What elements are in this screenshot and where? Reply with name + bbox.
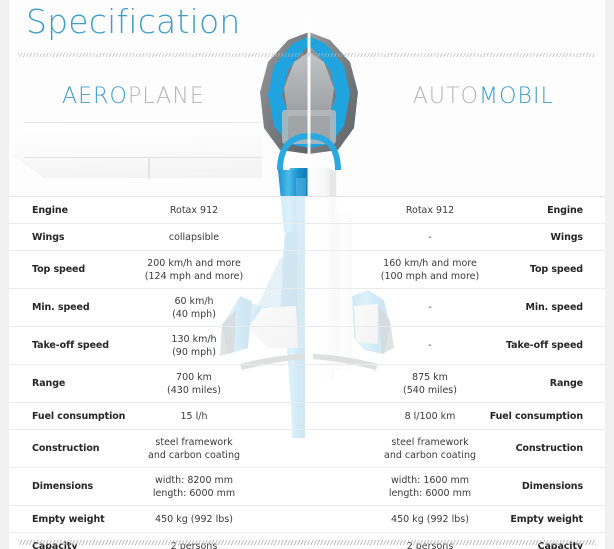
column-heading-aeroplane: AEROPLANE (62, 84, 205, 109)
row-label-right: Dimensions (522, 481, 583, 492)
row-value-aeroplane: 450 kg (992 lbs) (119, 513, 269, 526)
column-gap (305, 506, 313, 532)
heading-aeroplane-part1: AERO (62, 84, 128, 109)
column-gap (305, 468, 313, 505)
row-label-right: Empty weight (510, 514, 583, 525)
row-cell-automobil: 160 km/h and more (100 mph and more) Top… (313, 251, 605, 288)
row-value-automobil: 875 km (540 miles) (355, 371, 505, 397)
row-cell-automobil: width: 1600 mm length: 6000 mm Dimension… (313, 468, 605, 505)
row-value-automobil: steel framework and carbon coating (355, 436, 505, 462)
row-value-aeroplane: 130 km/h (90 mph) (119, 333, 269, 359)
row-cell-automobil: Rotax 912 Engine (313, 197, 605, 223)
row-value-aeroplane: 200 km/h and more (124 mph and more) (119, 257, 269, 283)
row-cell-aeroplane: Min. speed 60 km/h (40 mph) (9, 289, 305, 326)
row-value-aeroplane: 700 km (430 miles) (119, 371, 269, 397)
table-row: Empty weight 450 kg (992 lbs) 450 kg (99… (9, 505, 605, 532)
page-gutter-right (605, 0, 614, 549)
table-row: Wings collapsible - Wings (9, 223, 605, 250)
row-value-automobil: - (355, 339, 505, 352)
column-gap (305, 224, 313, 250)
bottom-divider (18, 540, 596, 545)
row-label-right: Min. speed (525, 302, 583, 313)
row-cell-aeroplane: Wings collapsible (9, 224, 305, 250)
row-value-automobil: - (355, 231, 505, 244)
row-value-automobil: width: 1600 mm length: 6000 mm (355, 474, 505, 500)
heading-automobil-part1: AUTO (413, 84, 479, 109)
column-heading-automobil: AUTOMOBIL (413, 84, 554, 109)
table-row: Top speed 200 km/h and more (124 mph and… (9, 250, 605, 288)
row-label-left: Engine (32, 205, 68, 216)
row-cell-automobil: 8 l/100 km Fuel consumption (313, 403, 605, 429)
row-cell-aeroplane: Construction steel framework and carbon … (9, 430, 305, 467)
row-cell-automobil: 875 km (540 miles) Range (313, 365, 605, 402)
row-value-automobil: 160 km/h and more (100 mph and more) (355, 257, 505, 283)
row-label-left: Construction (32, 443, 99, 454)
row-label-right: Fuel consumption (490, 411, 583, 422)
row-label-left: Take-off speed (32, 340, 109, 351)
row-cell-automobil: - Wings (313, 224, 605, 250)
column-gap (305, 197, 313, 223)
column-gap (305, 403, 313, 429)
row-cell-automobil: 450 kg (992 lbs) Empty weight (313, 506, 605, 532)
row-cell-aeroplane: Top speed 200 km/h and more (124 mph and… (9, 251, 305, 288)
row-cell-aeroplane: Fuel consumption 15 l/h (9, 403, 305, 429)
row-value-automobil: - (355, 301, 505, 314)
row-cell-automobil: - Min. speed (313, 289, 605, 326)
row-label-right: Take-off speed (506, 340, 583, 351)
row-label-right: Wings (551, 232, 583, 243)
row-label-left: Top speed (32, 264, 85, 275)
table-row: Engine Rotax 912 Rotax 912 Engine (9, 196, 605, 223)
column-gap (305, 289, 313, 326)
row-label-left: Dimensions (32, 481, 93, 492)
row-label-right: Engine (547, 205, 583, 216)
table-row: Range 700 km (430 miles) 875 km (540 mil… (9, 364, 605, 402)
specification-table: Engine Rotax 912 Rotax 912 Engine Wings … (9, 196, 605, 536)
row-label-left: Fuel consumption (32, 411, 125, 422)
row-cell-automobil: - Take-off speed (313, 327, 605, 364)
row-value-aeroplane: 15 l/h (119, 410, 269, 423)
column-gap (305, 251, 313, 288)
heading-aeroplane-part2: PLANE (128, 84, 205, 109)
row-cell-automobil: steel framework and carbon coating Const… (313, 430, 605, 467)
row-cell-aeroplane: Take-off speed 130 km/h (90 mph) (9, 327, 305, 364)
row-cell-aeroplane: Range 700 km (430 miles) (9, 365, 305, 402)
row-label-left: Empty weight (32, 514, 105, 525)
row-value-automobil: 450 kg (992 lbs) (355, 513, 505, 526)
specification-page: Specification AEROPLANE AUTOMOBIL (0, 0, 614, 549)
page-gutter-left (0, 0, 9, 549)
row-value-aeroplane: collapsible (119, 231, 269, 244)
table-row: Construction steel framework and carbon … (9, 429, 605, 467)
table-row: Min. speed 60 km/h (40 mph) - Min. speed (9, 288, 605, 326)
row-cell-aeroplane: Engine Rotax 912 (9, 197, 305, 223)
row-label-left: Min. speed (32, 302, 90, 313)
title-divider (18, 53, 596, 57)
table-row: Fuel consumption 15 l/h 8 l/100 km Fuel … (9, 402, 605, 429)
aeroplane-wing-flap-line (148, 158, 150, 179)
row-label-right: Construction (516, 443, 583, 454)
page-title: Specification (26, 2, 240, 41)
row-value-automobil: Rotax 912 (355, 204, 505, 217)
column-gap (305, 327, 313, 364)
row-label-left: Wings (32, 232, 64, 243)
row-value-aeroplane: Rotax 912 (119, 204, 269, 217)
row-label-right: Top speed (530, 264, 583, 275)
row-value-automobil: 8 l/100 km (355, 410, 505, 423)
row-label-left: Range (32, 378, 65, 389)
row-label-right: Range (550, 378, 583, 389)
row-value-aeroplane: steel framework and carbon coating (119, 436, 269, 462)
row-value-aeroplane: width: 8200 mm length: 6000 mm (119, 474, 269, 500)
row-cell-aeroplane: Empty weight 450 kg (992 lbs) (9, 506, 305, 532)
column-gap (305, 430, 313, 467)
row-cell-aeroplane: Dimensions width: 8200 mm length: 6000 m… (9, 468, 305, 505)
column-gap (305, 365, 313, 402)
table-row: Dimensions width: 8200 mm length: 6000 m… (9, 467, 605, 505)
table-row: Take-off speed 130 km/h (90 mph) - Take-… (9, 326, 605, 364)
row-value-aeroplane: 60 km/h (40 mph) (119, 295, 269, 321)
heading-automobil-part2: MOBIL (479, 84, 554, 109)
